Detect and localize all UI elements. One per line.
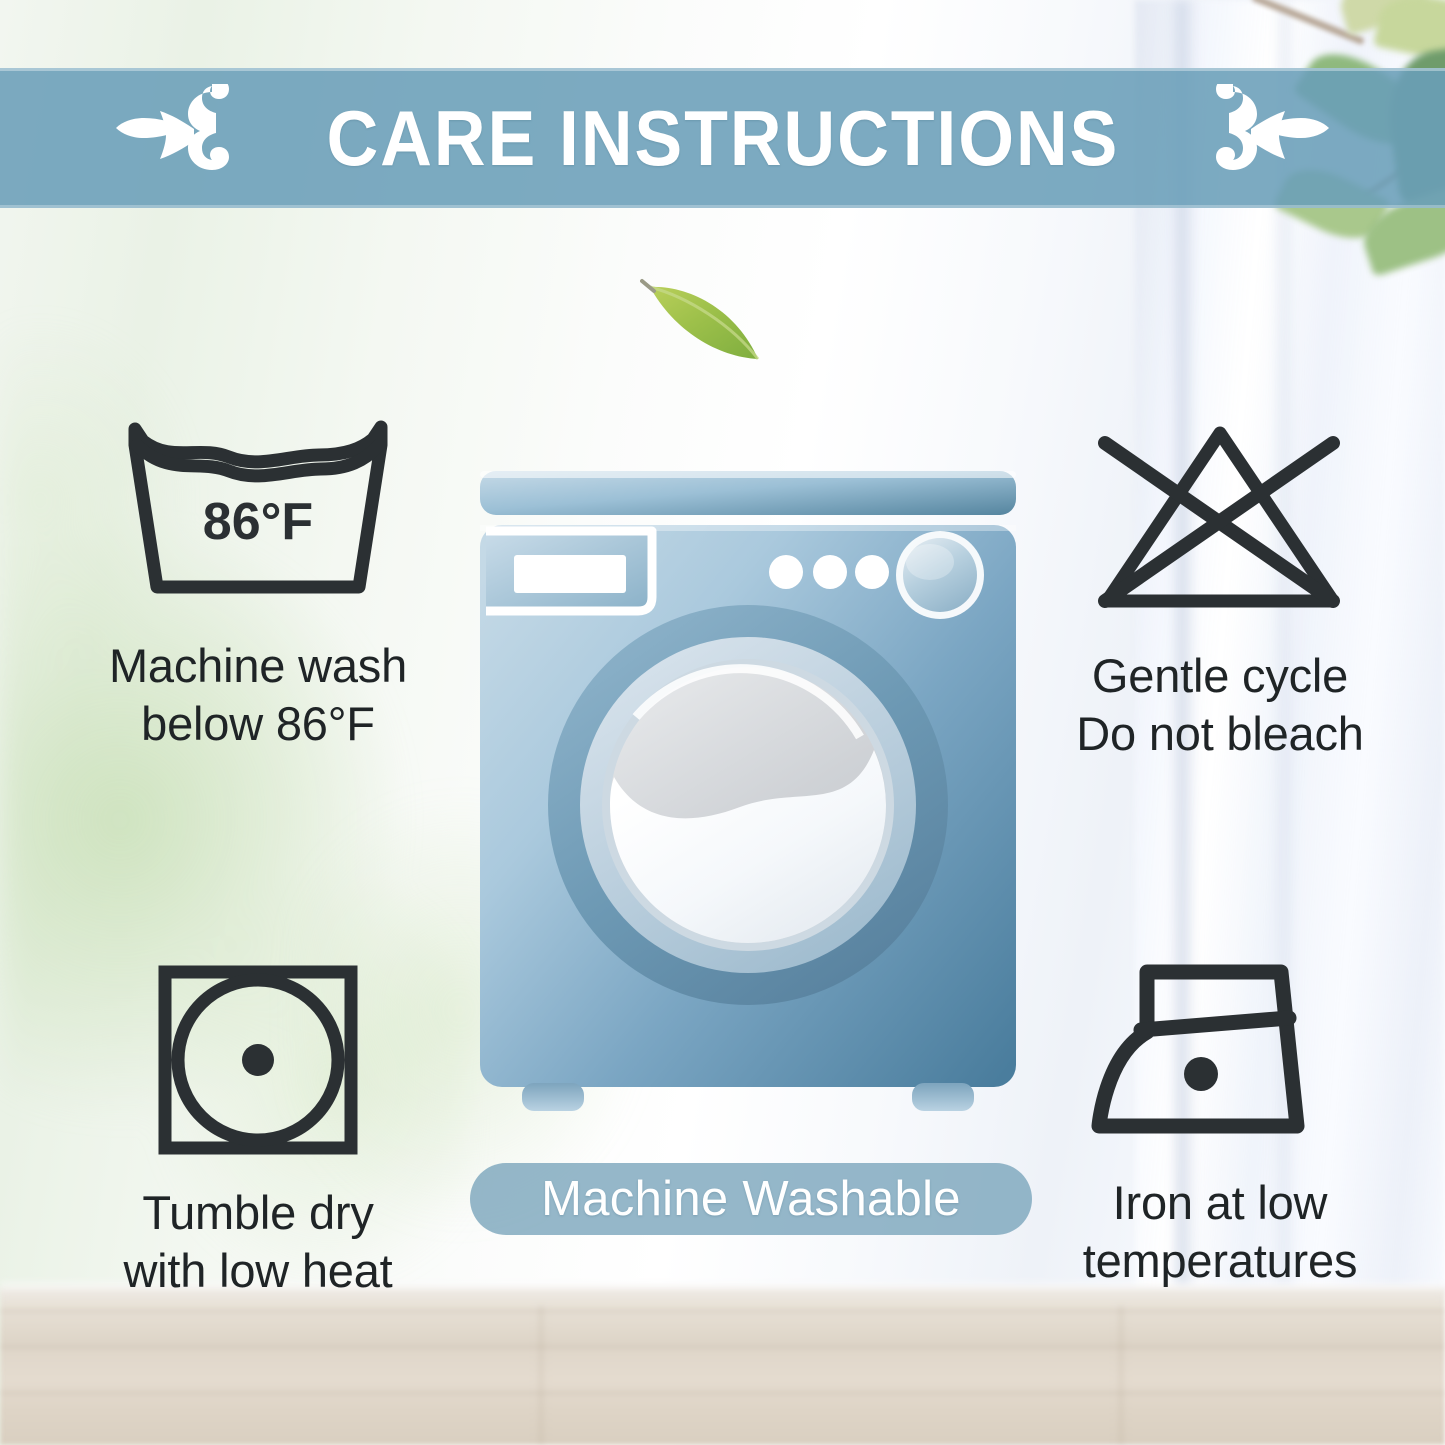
wood-grain-line [0,1310,1445,1312]
background-wood-table [0,1288,1445,1445]
control-knob[interactable] [896,531,984,619]
indicator-light-2 [813,555,847,589]
care-symbol-iron: Iron at low temperatures [1000,960,1440,1291]
care-symbol-machine-wash: 86°F Machine wash below 86°F [38,415,478,754]
care-label-iron: Iron at low temperatures [1083,1174,1358,1291]
banner-bottom-edge [0,205,1445,208]
care-label-do-not-bleach: Gentle cycle Do not bleach [1076,647,1363,764]
header-banner: CARE INSTRUCTIONS [0,68,1445,208]
wood-grain-line [0,1346,1445,1348]
indicator-light-1 [769,555,803,589]
wood-plank-seam [540,1306,542,1445]
machine-washable-badge-text: Machine Washable [541,1171,961,1227]
machine-washable-badge: Machine Washable [470,1163,1032,1235]
care-label-tumble-dry: Tumble dry with low heat [123,1184,392,1301]
triangle-crossed-out-icon [1075,415,1365,615]
iron-one-dot-icon [1075,960,1365,1150]
banner-top-edge [0,68,1445,71]
washer-feet [522,1083,974,1111]
indicator-light-3 [855,555,889,589]
wash-temperature-value: 86°F [203,493,313,551]
washer-foot-left [522,1083,584,1111]
wash-tub-icon: 86°F [113,415,403,615]
care-label-machine-wash: Machine wash below 86°F [109,637,407,754]
fleur-de-lis-icon-right [1179,84,1329,193]
fleur-de-lis-icon-left [116,84,266,193]
care-symbol-do-not-bleach: Gentle cycle Do not bleach [1000,415,1440,764]
washer-top-lid [480,471,1016,515]
floating-leaf-icon [640,275,770,370]
indicator-lights [769,555,889,589]
detergent-drawer[interactable] [486,531,652,611]
washing-machine-illustration [468,455,1028,1125]
washer-foot-right [912,1083,974,1111]
care-symbol-tumble-dry: Tumble dry with low heat [38,960,478,1301]
page-title: CARE INSTRUCTIONS [326,93,1119,184]
washer-door[interactable] [548,605,948,1005]
tumble-dry-square-circle-one-dot-icon [143,960,373,1160]
wood-plank-seam [1120,1306,1122,1445]
wood-grain-line [0,1392,1445,1394]
care-instructions-infographic: CARE INSTRUCTIONS [0,0,1445,1445]
